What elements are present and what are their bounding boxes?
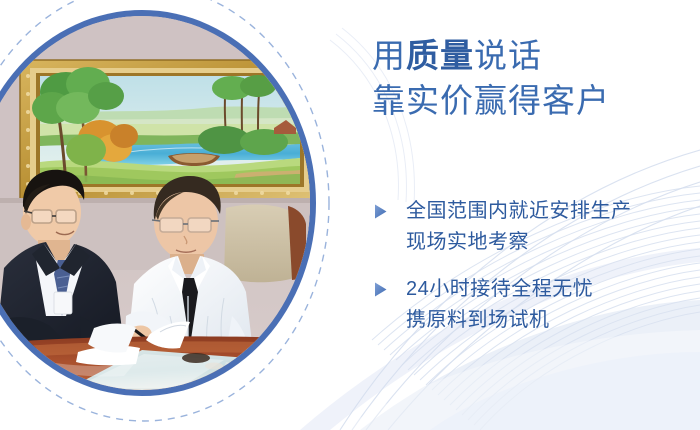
headline-line-2: 靠实价赢得客户 [372,78,700,123]
headline-line1-suffix: 说话 [474,37,542,74]
bullet-secondary-text: 携原料到场试机 [372,305,700,336]
bullet-secondary-text: 现场实地考察 [372,227,700,258]
headline-block: 用质量说话 靠实价赢得客户 [372,33,700,123]
bullet-primary-text: 全国范围内就近安排生产 [406,196,632,227]
triangle-right-icon [372,196,406,220]
content-column: 用质量说话 靠实价赢得客户 [372,0,700,430]
bullet-item-1: 全国范围内就近安排生产 现场实地考察 [372,196,700,258]
photo-cluster [0,0,334,428]
headline-line1-emphasis: 质量 [406,37,474,74]
headline-line-1: 用质量说话 [372,33,700,78]
triangle-right-icon [372,274,406,298]
headline-line1-prefix: 用 [372,37,406,74]
bullet-primary-text: 24小时接待全程无忧 [406,274,593,305]
promo-banner: 用质量说话 靠实价赢得客户 [0,0,700,430]
bullet-item-2: 24小时接待全程无忧 携原料到场试机 [372,274,700,336]
bullet-list: 全国范围内就近安排生产 现场实地考察 [372,196,700,352]
